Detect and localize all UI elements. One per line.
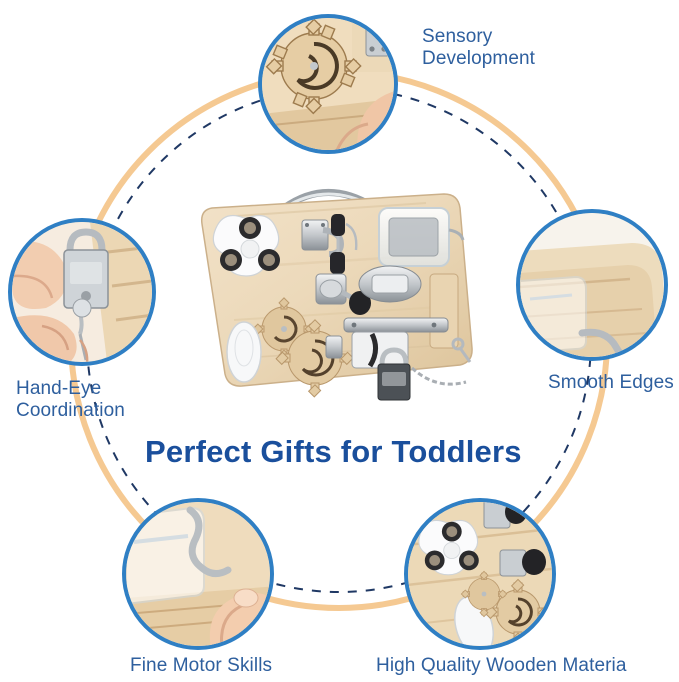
feature-photo-fine-motor-skills xyxy=(122,498,274,650)
feature-label-sensory-development: Sensory Development xyxy=(422,26,535,70)
feature-photo-high-quality-wooden-material xyxy=(404,498,556,650)
metal-hinge xyxy=(366,22,390,56)
infographic-canvas: Sensory Development Hand-Eye Coordinatio… xyxy=(0,0,679,682)
fidget-spinner xyxy=(213,216,280,276)
oval-latch xyxy=(359,266,421,302)
latch-photo-mid xyxy=(500,549,546,576)
feature-label-hand-eye-coordination: Hand-Eye Coordination xyxy=(16,378,125,422)
feature-photo-smooth-edges xyxy=(516,209,668,361)
spinner-photo xyxy=(419,520,479,574)
page-title: Perfect Gifts for Toddlers xyxy=(145,434,522,470)
product-image xyxy=(176,172,476,420)
feature-photo-hand-eye-coordination xyxy=(8,218,156,366)
feature-photo-sensory-development xyxy=(258,14,398,154)
oval-white-button xyxy=(227,322,261,382)
wooden-block xyxy=(430,274,458,348)
clear-crank-photo xyxy=(520,277,586,353)
feature-label-fine-motor-skills: Fine Motor Skills xyxy=(130,655,272,677)
feature-label-smooth-edges: Smooth Edges xyxy=(548,372,674,394)
feature-label-high-quality-wooden-material: High Quality Wooden Materia xyxy=(376,655,627,677)
